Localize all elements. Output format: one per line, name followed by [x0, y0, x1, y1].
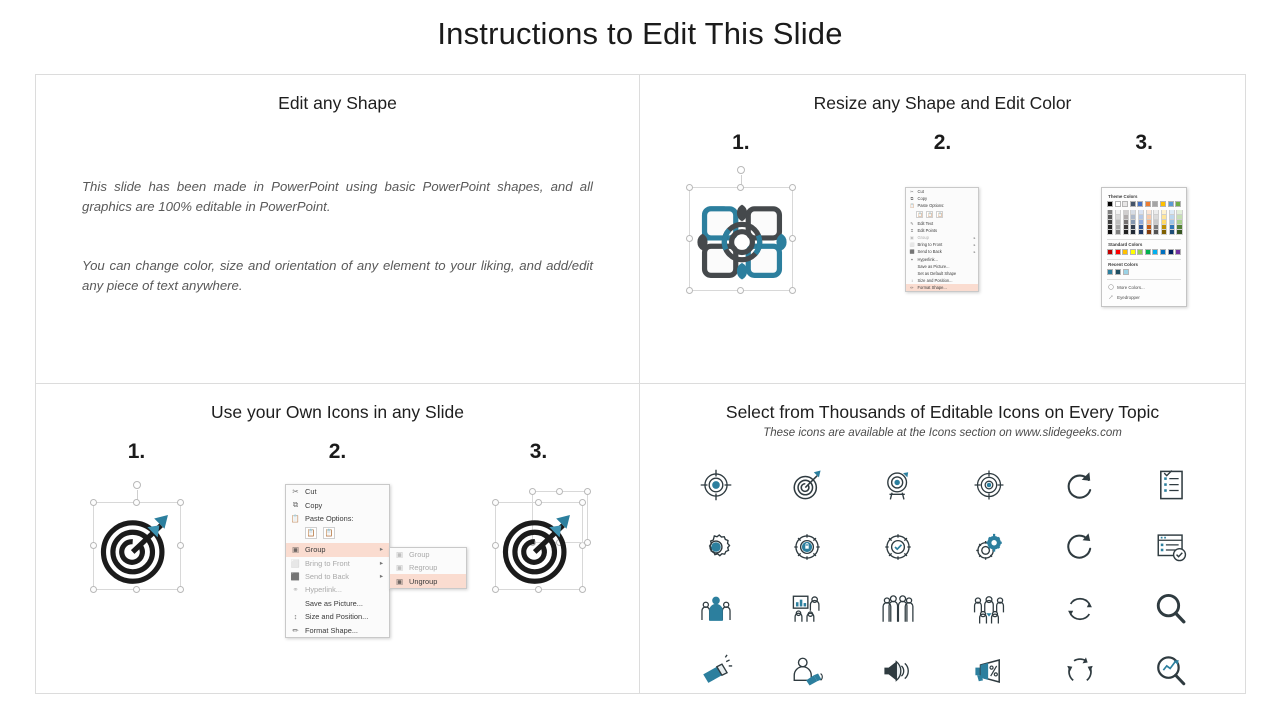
standard-swatch-9[interactable]: [1175, 249, 1181, 255]
target-on-stand-icon[interactable]: [878, 466, 918, 504]
person-megaphone-icon[interactable]: [787, 652, 827, 690]
theme-shade-column-3[interactable]: [1130, 210, 1136, 235]
color-picker-panel[interactable]: Theme Colors Standard Colors Recent Colo…: [1101, 187, 1187, 307]
submenu-arrow-icon: ▸: [380, 560, 383, 567]
scissors-icon: ✂: [909, 189, 914, 194]
bring-front-icon: ⬜: [291, 559, 300, 568]
resize-handle-nw[interactable]: [90, 499, 97, 506]
standard-color-swatches[interactable]: [1107, 249, 1181, 255]
context-menu-item-label: Copy: [917, 196, 927, 201]
context-menu-item-label: Bring to Front: [305, 559, 350, 568]
browser-check-icon[interactable]: [1151, 528, 1191, 566]
theme-shade-5-4[interactable]: [1146, 230, 1152, 235]
refresh-circle-icon[interactable]: [1060, 528, 1100, 566]
context-menu-item-size-and-position[interactable]: ↕Size and Position...: [286, 610, 389, 623]
panel-resize-shape: Resize any Shape and Edit Color 1. 2. 3.: [639, 74, 1246, 383]
more-colors-label: More Colors...: [1117, 285, 1145, 290]
target-icon-ungrouped-frame[interactable]: [495, 502, 583, 590]
resize-handle-s[interactable]: [737, 287, 744, 294]
submenu-item-label: Ungroup: [409, 577, 437, 586]
step-number-2: 2.: [842, 131, 1044, 155]
resize-handle-s[interactable]: [133, 586, 140, 593]
standard-swatch-0[interactable]: [1107, 249, 1113, 255]
magnifier-chart-icon[interactable]: [1151, 652, 1191, 690]
own-icons-figures: ✂Cut⧉Copy📋Paste Options:📋📋▣Group▸▣Group▣…: [36, 484, 639, 638]
standard-swatch-1[interactable]: [1115, 249, 1121, 255]
edit-text-icon: ✎: [909, 221, 914, 226]
theme-shade-7-4[interactable]: [1161, 230, 1167, 235]
submenu-arrow-icon: ▸: [974, 236, 976, 240]
context-menu-item-copy[interactable]: ⧉Copy: [906, 195, 978, 202]
submenu-item-label: Regroup: [409, 563, 437, 572]
theme-shade-column-0[interactable]: [1107, 210, 1113, 235]
context-menu-item-bring-to-front[interactable]: ⬜Bring to Front▸: [906, 241, 978, 248]
menu-item-icon: [909, 271, 914, 276]
people-group-icon[interactable]: [696, 590, 736, 628]
size-position-icon: ↕: [291, 612, 300, 621]
send-back-icon: ⬛: [291, 572, 300, 581]
panel-subheading-editable-icons: These icons are available at the Icons s…: [640, 427, 1245, 439]
resize-handle-sw[interactable]: [90, 586, 97, 593]
edit-shape-paragraph-1: This slide has been made in PowerPoint u…: [82, 177, 593, 218]
theme-shade-column-6[interactable]: [1153, 210, 1159, 235]
resize-handle-nw[interactable]: [529, 488, 536, 495]
more-colors-item[interactable]: More Colors...: [1107, 282, 1181, 292]
context-menu-item-label: Group: [917, 235, 928, 240]
edit-points-icon: ⌗: [909, 228, 914, 233]
resize-handle-n[interactable]: [556, 488, 563, 495]
context-menu-item-save-as-picture[interactable]: Save as Picture...: [906, 263, 978, 270]
size-position-icon: ↕: [909, 278, 914, 283]
resize-handle-ne[interactable]: [584, 488, 591, 495]
standard-swatch-3[interactable]: [1130, 249, 1136, 255]
resize-steps: 1. 2. 3.: [640, 131, 1245, 155]
theme-shade-3-4[interactable]: [1130, 230, 1136, 235]
theme-shade-6-4[interactable]: [1153, 230, 1159, 235]
context-menu-item-label: Save as Picture...: [305, 599, 363, 608]
paste-keep-formatting[interactable]: 📋: [305, 527, 317, 539]
context-menu-item-send-to-back[interactable]: ⬛Send to Back▸: [906, 248, 978, 255]
paste-options-buttons: 📋📋: [286, 525, 389, 543]
theme-swatch-8[interactable]: [1168, 201, 1174, 207]
resize-handle-n[interactable]: [737, 184, 744, 191]
target-icon-selection-frame[interactable]: [93, 502, 181, 590]
eyedropper-label: Eyedropper: [1117, 295, 1140, 300]
submenu-item-label: Group: [409, 550, 430, 559]
theme-color-swatches[interactable]: [1107, 201, 1181, 207]
standard-swatch-5[interactable]: [1145, 249, 1151, 255]
step-number-3: 3.: [1043, 131, 1245, 155]
gear-lock-icon[interactable]: [787, 528, 827, 566]
submenu-item-ungroup[interactable]: ▣Ungroup: [390, 574, 466, 587]
team-meeting-icon[interactable]: [969, 590, 1009, 628]
context-menu-format-shape[interactable]: ✂Cut⧉Copy📋Paste Options:📋📋📋✎Edit Text⌗Ed…: [905, 187, 979, 292]
theme-shade-column-5[interactable]: [1146, 210, 1152, 235]
theme-shade-0-4[interactable]: [1107, 230, 1113, 235]
theme-shade-9-4[interactable]: [1176, 230, 1182, 235]
target-dart-icon: [496, 503, 582, 589]
paste-picture[interactable]: 📋: [926, 211, 933, 218]
paste-keep-text[interactable]: 📋: [936, 211, 943, 218]
rotate-handle[interactable]: [133, 481, 141, 489]
paste-picture[interactable]: 📋: [323, 527, 335, 539]
resize-handle-e[interactable]: [177, 542, 184, 549]
hyperlink-icon: ⚭: [909, 257, 914, 262]
context-menu-item-label: Format Shape...: [305, 626, 358, 635]
recent-colors-label: Recent Colors: [1108, 262, 1181, 267]
theme-shade-column-8[interactable]: [1169, 210, 1175, 235]
resize-handle-w[interactable]: [90, 542, 97, 549]
context-menu-item-label: Send to Back: [305, 572, 349, 581]
context-menu-item-label: Save as Picture...: [917, 264, 949, 269]
rotate-handle[interactable]: [737, 166, 745, 174]
context-menu-group[interactable]: ✂Cut⧉Copy📋Paste Options:📋📋▣Group▸▣Group▣…: [285, 484, 390, 638]
context-menu-item-label: Hyperlink...: [305, 585, 342, 594]
recent-swatch-2[interactable]: [1123, 269, 1129, 275]
theme-swatch-0[interactable]: [1107, 201, 1113, 207]
panel-heading-edit-shape: Edit any Shape: [36, 75, 639, 114]
context-menu-item-bring-to-front[interactable]: ⬜Bring to Front▸: [286, 557, 389, 570]
dartboard-dart-icon[interactable]: [787, 466, 827, 504]
standard-swatch-7[interactable]: [1160, 249, 1166, 255]
context-menu-item-paste-options[interactable]: 📋Paste Options:: [906, 202, 978, 209]
megaphone-percent-icon[interactable]: [969, 652, 1009, 690]
context-menu-item-save-as-picture[interactable]: Save as Picture...: [286, 597, 389, 610]
eyedropper-item[interactable]: Eyedropper: [1107, 292, 1181, 302]
group-icon: ▣: [291, 545, 300, 554]
speaker-loud-icon[interactable]: [878, 652, 918, 690]
context-menu-item-hyperlink[interactable]: ⚭Hyperlink...: [906, 256, 978, 263]
submenu-arrow-icon: ▸: [380, 546, 383, 553]
submenu-item-regroup[interactable]: ▣Regroup: [390, 561, 466, 574]
standard-swatch-6[interactable]: [1152, 249, 1158, 255]
theme-swatch-4[interactable]: [1137, 201, 1143, 207]
theme-shade-column-4[interactable]: [1138, 210, 1144, 235]
theme-colors-label: Theme Colors: [1108, 194, 1181, 199]
format-shape-icon: ✏: [909, 285, 914, 290]
quadrant-grid: Edit any Shape This slide has been made …: [35, 74, 1246, 694]
step-number-2: 2.: [237, 440, 438, 464]
recent-swatch-1[interactable]: [1115, 269, 1121, 275]
theme-swatch-9[interactable]: [1175, 201, 1181, 207]
divider: [1107, 259, 1181, 260]
resize-handle-se[interactable]: [789, 287, 796, 294]
recent-color-swatches[interactable]: [1107, 269, 1181, 275]
theme-shade-8-4[interactable]: [1169, 230, 1175, 235]
context-menu-item-send-to-back[interactable]: ⬛Send to Back▸: [286, 570, 389, 583]
panel-heading-resize-shape: Resize any Shape and Edit Color: [640, 75, 1245, 114]
menu-item-icon: [291, 599, 300, 608]
context-menu-item-label: Hyperlink...: [917, 257, 937, 262]
context-menu-item-copy[interactable]: ⧉Copy: [286, 498, 389, 511]
theme-swatch-2[interactable]: [1122, 201, 1128, 207]
slide-canvas: Instructions to Edit This Slide Edit any…: [0, 0, 1280, 720]
panel-heading-editable-icons: Select from Thousands of Editable Icons …: [640, 384, 1245, 423]
paste-options-buttons: 📋📋📋: [906, 210, 978, 220]
context-menu-item-label: Size and Position...: [917, 278, 952, 283]
double-gear-icon[interactable]: [969, 528, 1009, 566]
gear-icon[interactable]: [696, 528, 736, 566]
theme-swatch-5[interactable]: [1145, 201, 1151, 207]
cycle-arrows-icon[interactable]: [1060, 652, 1100, 690]
presentation-team-icon[interactable]: [787, 590, 827, 628]
magnifier-icon[interactable]: [1151, 590, 1191, 628]
resize-handle-se[interactable]: [584, 539, 591, 546]
menu-item-icon: [909, 264, 914, 269]
context-menu-item-label: Bring to Front: [917, 242, 942, 247]
context-menu-item-edit-text[interactable]: ✎Edit Text: [906, 220, 978, 227]
sync-arrows-icon[interactable]: [1060, 590, 1100, 628]
eyedropper-icon: [1108, 294, 1114, 300]
context-menu-item-label: Paste Options:: [305, 514, 353, 523]
submenu-item-group[interactable]: ▣Group: [390, 548, 466, 561]
theme-shade-column-9[interactable]: [1176, 210, 1182, 235]
scissors-icon: ✂: [291, 487, 300, 496]
context-menu-item-label: Format Shape...: [917, 285, 946, 290]
group-submenu[interactable]: ▣Group▣Regroup▣Ungroup: [389, 547, 467, 589]
standard-swatch-4[interactable]: [1137, 249, 1143, 255]
resize-handle-w[interactable]: [686, 235, 693, 242]
send-back-icon: ⬛: [909, 249, 914, 254]
copy-icon: ⧉: [291, 501, 300, 510]
submenu-arrow-icon: ▸: [974, 243, 976, 247]
panel-heading-own-icons: Use your Own Icons in any Slide: [36, 384, 639, 423]
target-dart-icon: [94, 503, 180, 589]
four-squares-circle-icon: [690, 188, 794, 292]
context-menu-item-group[interactable]: ▣Group▸▣Group▣Regroup▣Ungroup: [286, 543, 389, 556]
context-menu-item-hyperlink[interactable]: ⚭Hyperlink...: [286, 583, 389, 596]
bring-front-icon: ⬜: [909, 242, 914, 247]
resize-figures: ✂Cut⧉Copy📋Paste Options:📋📋📋✎Edit Text⌗Ed…: [640, 187, 1245, 307]
context-menu-item-edit-points[interactable]: ⌗Edit Points: [906, 227, 978, 234]
theme-shade-column-2[interactable]: [1123, 210, 1129, 235]
context-menu-item-label: Size and Position...: [305, 612, 368, 621]
context-menu-item-cut[interactable]: ✂Cut: [906, 188, 978, 195]
context-menu-item-label: Cut: [305, 487, 317, 496]
context-menu-item-format-shape[interactable]: ✏Format Shape...: [286, 623, 389, 636]
icon-library-grid: [670, 466, 1217, 690]
divider: [1107, 279, 1181, 280]
paste-icon: 📋: [909, 203, 914, 208]
scope-crosshair-icon[interactable]: [969, 466, 1009, 504]
context-menu-item-format-shape[interactable]: ✏Format Shape...: [906, 284, 978, 291]
submenu-arrow-icon: ▸: [974, 250, 976, 254]
theme-swatch-3[interactable]: [1130, 201, 1136, 207]
resize-handle-ne[interactable]: [789, 184, 796, 191]
context-menu-item-size-and-position[interactable]: ↕Size and Position...: [906, 277, 978, 284]
context-menu-item-label: Cut: [917, 189, 923, 194]
paste-icon: 📋: [291, 514, 300, 523]
resize-handle-se[interactable]: [177, 586, 184, 593]
theme-shade-column-7[interactable]: [1161, 210, 1167, 235]
redo-arrow-icon[interactable]: [1060, 466, 1100, 504]
copy-icon: ⧉: [909, 196, 914, 201]
submenu-arrow-icon: ▸: [380, 573, 383, 580]
crosshair-target-icon[interactable]: [696, 466, 736, 504]
format-shape-icon: ✏: [291, 626, 300, 635]
resize-handle-nw[interactable]: [686, 184, 693, 191]
theme-shade-column-1[interactable]: [1115, 210, 1121, 235]
context-menu-item-set-as-default-shape[interactable]: Set as Default Shape: [906, 270, 978, 277]
theme-swatch-1[interactable]: [1115, 201, 1121, 207]
resize-handle-n[interactable]: [133, 499, 140, 506]
group-icon: ▣: [909, 235, 914, 240]
context-menu-item-cut[interactable]: ✂Cut: [286, 485, 389, 498]
context-menu-item-label: Copy: [305, 501, 322, 510]
edit-shape-body: This slide has been made in PowerPoint u…: [82, 177, 593, 297]
shape-selection-frame[interactable]: [689, 187, 793, 291]
panel-edit-any-shape: Edit any Shape This slide has been made …: [35, 74, 639, 383]
group-icon: ▣: [395, 550, 404, 559]
theme-shade-1-4[interactable]: [1115, 230, 1121, 235]
theme-shade-4-4[interactable]: [1138, 230, 1144, 235]
step-number-1: 1.: [640, 131, 842, 155]
step-number-1: 1.: [36, 440, 237, 464]
context-menu-item-group[interactable]: ▣Group▸: [906, 234, 978, 241]
standard-swatch-8[interactable]: [1168, 249, 1174, 255]
standard-colors-label: Standard Colors: [1108, 242, 1181, 247]
team-crowd-icon[interactable]: [878, 590, 918, 628]
context-menu-item-label: Edit Text: [917, 221, 933, 226]
context-menu-item-paste-options[interactable]: 📋Paste Options:: [286, 512, 389, 525]
palette-icon: [1108, 284, 1114, 290]
megaphone-icon[interactable]: [696, 652, 736, 690]
standard-swatch-2[interactable]: [1122, 249, 1128, 255]
resize-handle-sw[interactable]: [686, 287, 693, 294]
hyperlink-icon: ⚭: [291, 585, 300, 594]
own-icons-steps: 1. 2. 3.: [36, 440, 639, 464]
resize-handle-e[interactable]: [789, 235, 796, 242]
checklist-document-icon[interactable]: [1151, 466, 1191, 504]
panel-editable-icons: Select from Thousands of Editable Icons …: [639, 383, 1246, 694]
group-icon: ▣: [395, 577, 404, 586]
page-title: Instructions to Edit This Slide: [0, 16, 1280, 52]
resize-handle-ne[interactable]: [177, 499, 184, 506]
context-menu-item-label: Send to Back: [917, 249, 941, 254]
edit-shape-paragraph-2: You can change color, size and orientati…: [82, 256, 593, 297]
step-number-3: 3.: [438, 440, 639, 464]
divider: [1107, 239, 1181, 240]
context-menu-item-label: Paste Options:: [917, 203, 944, 208]
context-menu-item-label: Set as Default Shape: [917, 271, 956, 276]
gear-check-icon[interactable]: [878, 528, 918, 566]
group-icon: ▣: [395, 563, 404, 572]
theme-swatch-6[interactable]: [1152, 201, 1158, 207]
context-menu-item-label: Edit Points: [917, 228, 937, 233]
panel-own-icons: Use your Own Icons in any Slide 1. 2. 3.: [35, 383, 639, 694]
context-menu-item-label: Group: [305, 545, 326, 554]
theme-shade-swatches[interactable]: [1107, 210, 1181, 235]
paste-keep-formatting[interactable]: 📋: [916, 211, 923, 218]
theme-shade-2-4[interactable]: [1123, 230, 1129, 235]
theme-swatch-7[interactable]: [1160, 201, 1166, 207]
recent-swatch-0[interactable]: [1107, 269, 1113, 275]
